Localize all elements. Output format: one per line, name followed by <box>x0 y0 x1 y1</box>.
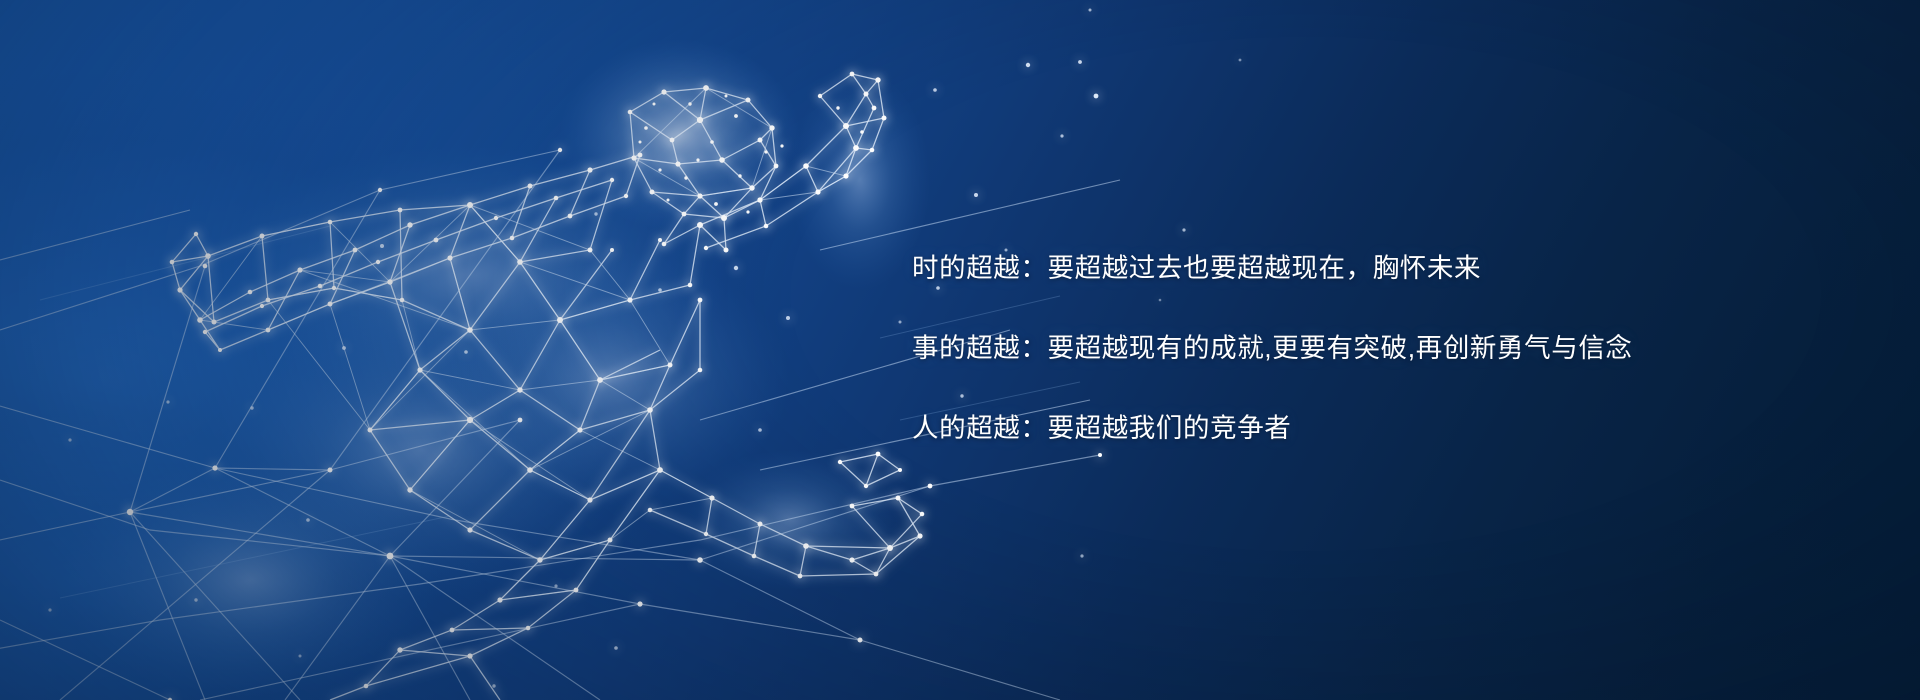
slogan-line-time: 时的超越：要超越过去也要超越现在，胸怀未来 <box>912 228 1532 308</box>
slogan-block: 时的超越：要超越过去也要超越现在，胸怀未来 事的超越：要超越现有的成就,更要有突… <box>912 228 1532 468</box>
slogan-line-matter: 事的超越：要超越现有的成就,更要有突破,再创新勇气与信念 <box>912 308 1532 388</box>
hero-banner: 时的超越：要超越过去也要超越现在，胸怀未来 事的超越：要超越现有的成就,更要有突… <box>0 0 1920 700</box>
slogan-line-people: 人的超越：要超越我们的竞争者 <box>912 388 1532 468</box>
